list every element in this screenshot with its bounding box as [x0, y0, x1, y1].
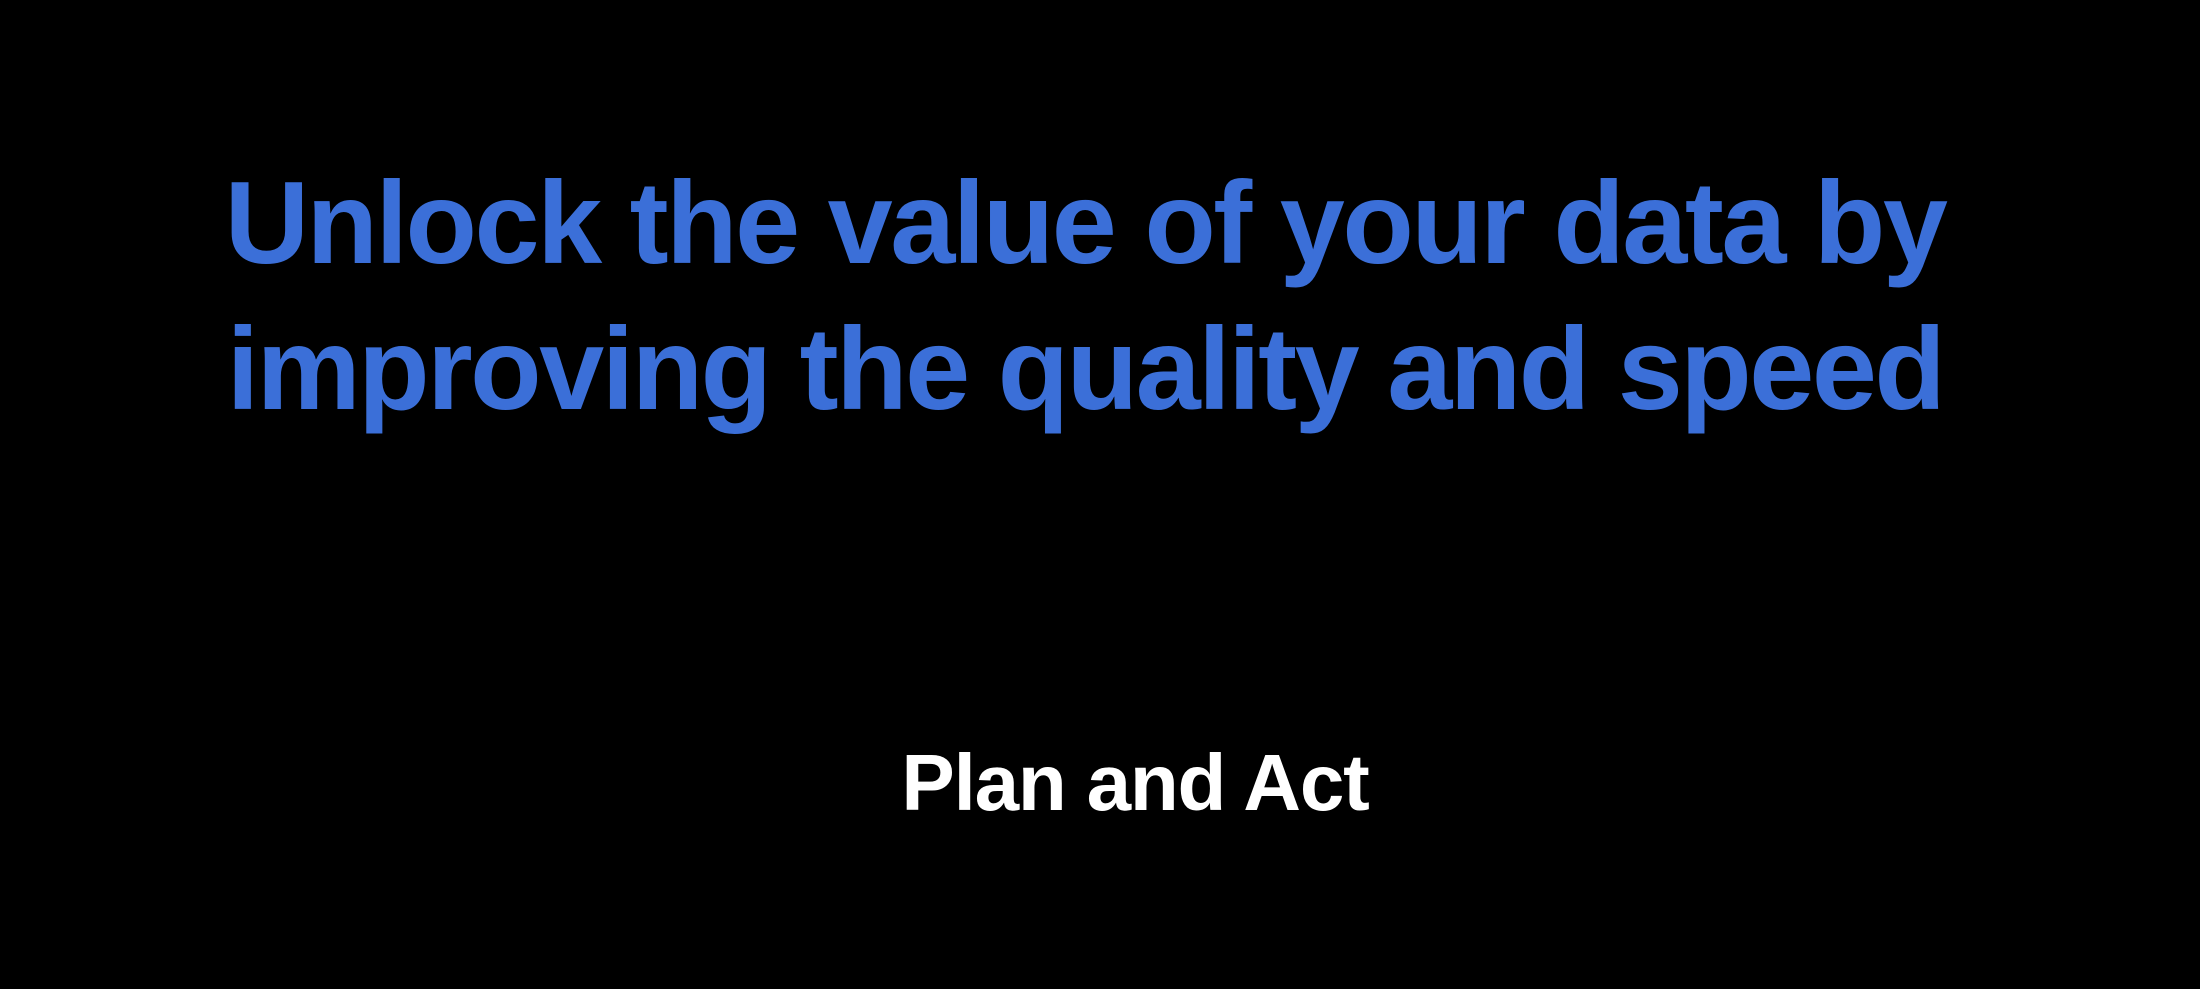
presentation-slide: Unlock the value of your data by improvi…: [0, 0, 2200, 989]
page-subtitle: Plan and Act: [0, 735, 2200, 831]
page-title: Unlock the value of your data by improvi…: [0, 150, 2170, 442]
